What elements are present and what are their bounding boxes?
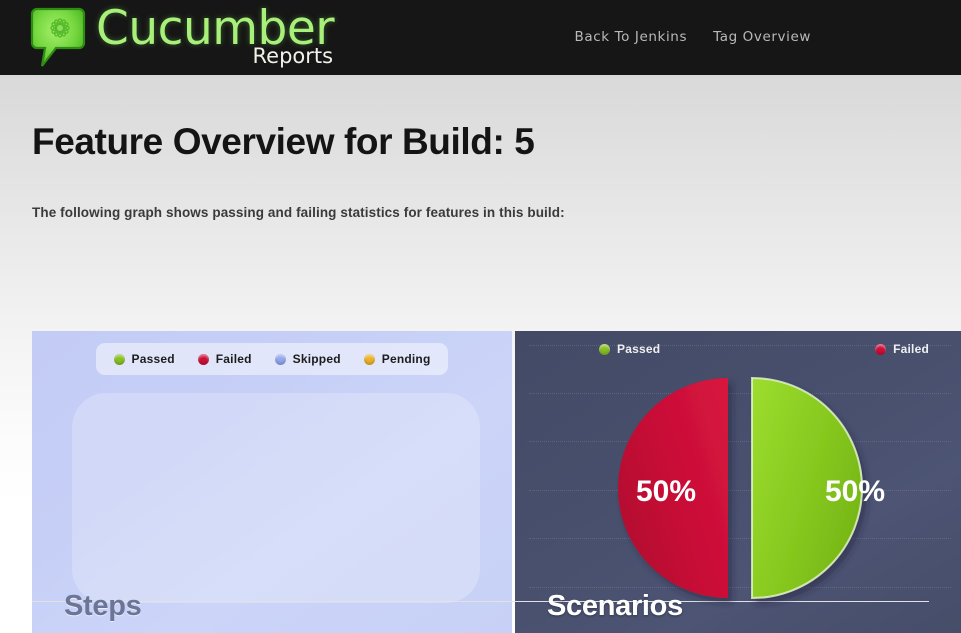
steps-chart-panel[interactable]: Passed Failed Skipped Pending (32, 331, 512, 633)
legend-dot-skipped-icon (275, 354, 286, 365)
page-body: Feature Overview for Build: 5 The follow… (0, 75, 961, 611)
scenarios-legend: Passed Failed (599, 337, 929, 361)
page-title: Feature Overview for Build: 5 (32, 75, 929, 163)
legend-item-passed[interactable]: Passed (599, 342, 660, 356)
nav-tag-overview[interactable]: Tag Overview (713, 29, 811, 45)
legend-item-failed[interactable]: Failed (875, 342, 929, 356)
legend-label-passed: Passed (617, 342, 660, 356)
scenarios-pie-chart[interactable]: 50% 50% (515, 331, 961, 633)
legend-item-passed[interactable]: Passed (114, 352, 175, 366)
legend-dot-failed-icon (198, 354, 209, 365)
legend-item-pending[interactable]: Pending (364, 352, 431, 366)
legend-dot-passed-icon (114, 354, 125, 365)
scenarios-label-failed: 50% (636, 475, 696, 508)
scenarios-chart-panel[interactable]: Passed Failed (515, 331, 961, 633)
steps-donut-chart[interactable]: 12% 88% (32, 331, 512, 633)
legend-dot-failed-icon (875, 344, 886, 355)
legend-item-failed[interactable]: Failed (198, 352, 252, 366)
cucumber-speech-bubble-flower-icon (30, 5, 92, 71)
legend-label-failed: Failed (893, 342, 929, 356)
legend-item-skipped[interactable]: Skipped (275, 352, 341, 366)
chart-row: Passed Failed Skipped Pending (32, 331, 961, 633)
legend-label-skipped: Skipped (293, 352, 341, 366)
content-container: Feature Overview for Build: 5 The follow… (0, 75, 961, 220)
page-lead-text: The following graph shows passing and fa… (32, 163, 929, 220)
brand-subtitle: Reports (253, 44, 334, 68)
brand-wordmark: Cucumber Reports (96, 4, 334, 54)
legend-label-pending: Pending (382, 352, 431, 366)
site-nav: Back To Jenkins Tag Overview (575, 29, 811, 45)
brand-logo[interactable]: Cucumber Reports (30, 2, 334, 71)
scenarios-label-passed: 50% (825, 475, 885, 508)
scenarios-panel-caption: Scenarios (547, 590, 683, 623)
legend-dot-pending-icon (364, 354, 375, 365)
legend-dot-passed-icon (599, 344, 610, 355)
nav-back-to-jenkins[interactable]: Back To Jenkins (575, 29, 688, 45)
legend-label-passed: Passed (132, 352, 175, 366)
legend-label-failed: Failed (216, 352, 252, 366)
steps-legend: Passed Failed Skipped Pending (96, 343, 448, 375)
site-header: Cucumber Reports Back To Jenkins Tag Ove… (0, 0, 961, 75)
steps-panel-caption: Steps (64, 590, 141, 623)
